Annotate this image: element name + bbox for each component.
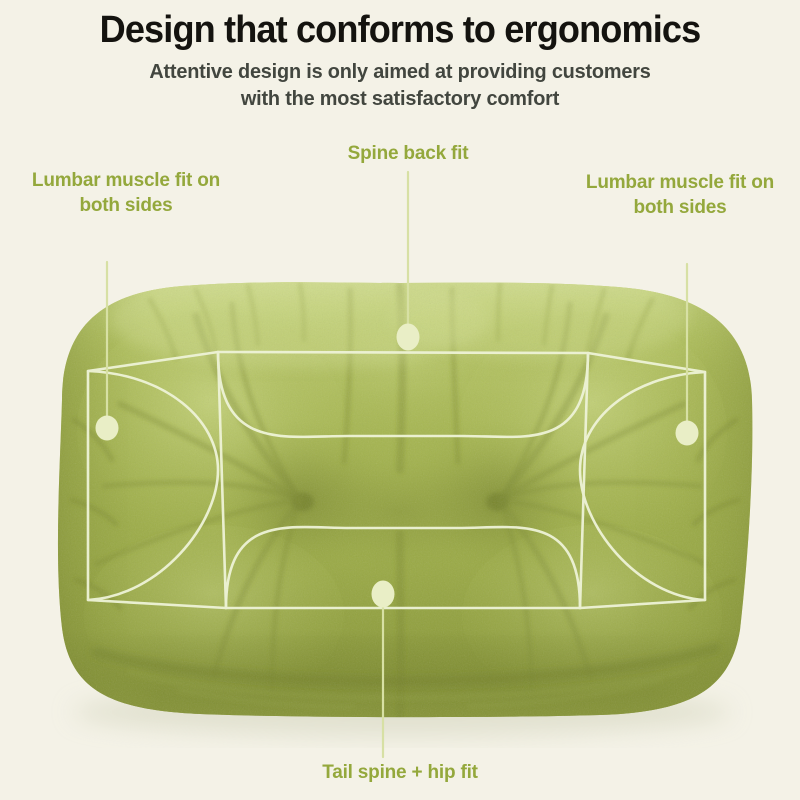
zone-frame-top — [218, 352, 588, 353]
callout-top-line-1: Spine back fit — [300, 141, 516, 166]
subtitle-line-2: with the most satisfactory comfort — [12, 85, 788, 112]
product-image-stage — [0, 0, 800, 800]
callout-dot-tail-hip — [372, 581, 395, 608]
callout-left-line-1: Lumbar muscle fit on — [0, 168, 254, 193]
header-block: Design that conforms to ergonomics Atten… — [0, 0, 800, 112]
callout-label-lumbar-left: Lumbar muscle fit on both sides — [0, 168, 254, 218]
callout-label-spine-back: Spine back fit — [300, 141, 516, 166]
callout-label-tail-hip: Tail spine + hip fit — [268, 760, 532, 785]
callout-dot-spine-back — [397, 324, 420, 351]
callout-bottom-line-1: Tail spine + hip fit — [268, 760, 532, 785]
infographic-poster: Design that conforms to ergonomics Atten… — [0, 0, 800, 800]
page-subtitle: Attentive design is only aimed at provid… — [12, 58, 788, 112]
callout-dot-lumbar-right — [676, 421, 699, 446]
callout-right-line-1: Lumbar muscle fit on — [552, 170, 800, 195]
callout-right-line-2: both sides — [552, 195, 800, 220]
callout-left-line-2: both sides — [0, 193, 254, 218]
callout-dot-lumbar-left — [96, 416, 119, 441]
subtitle-line-1: Attentive design is only aimed at provid… — [12, 58, 788, 85]
page-title: Design that conforms to ergonomics — [20, 0, 780, 52]
callout-label-lumbar-right: Lumbar muscle fit on both sides — [552, 170, 800, 220]
